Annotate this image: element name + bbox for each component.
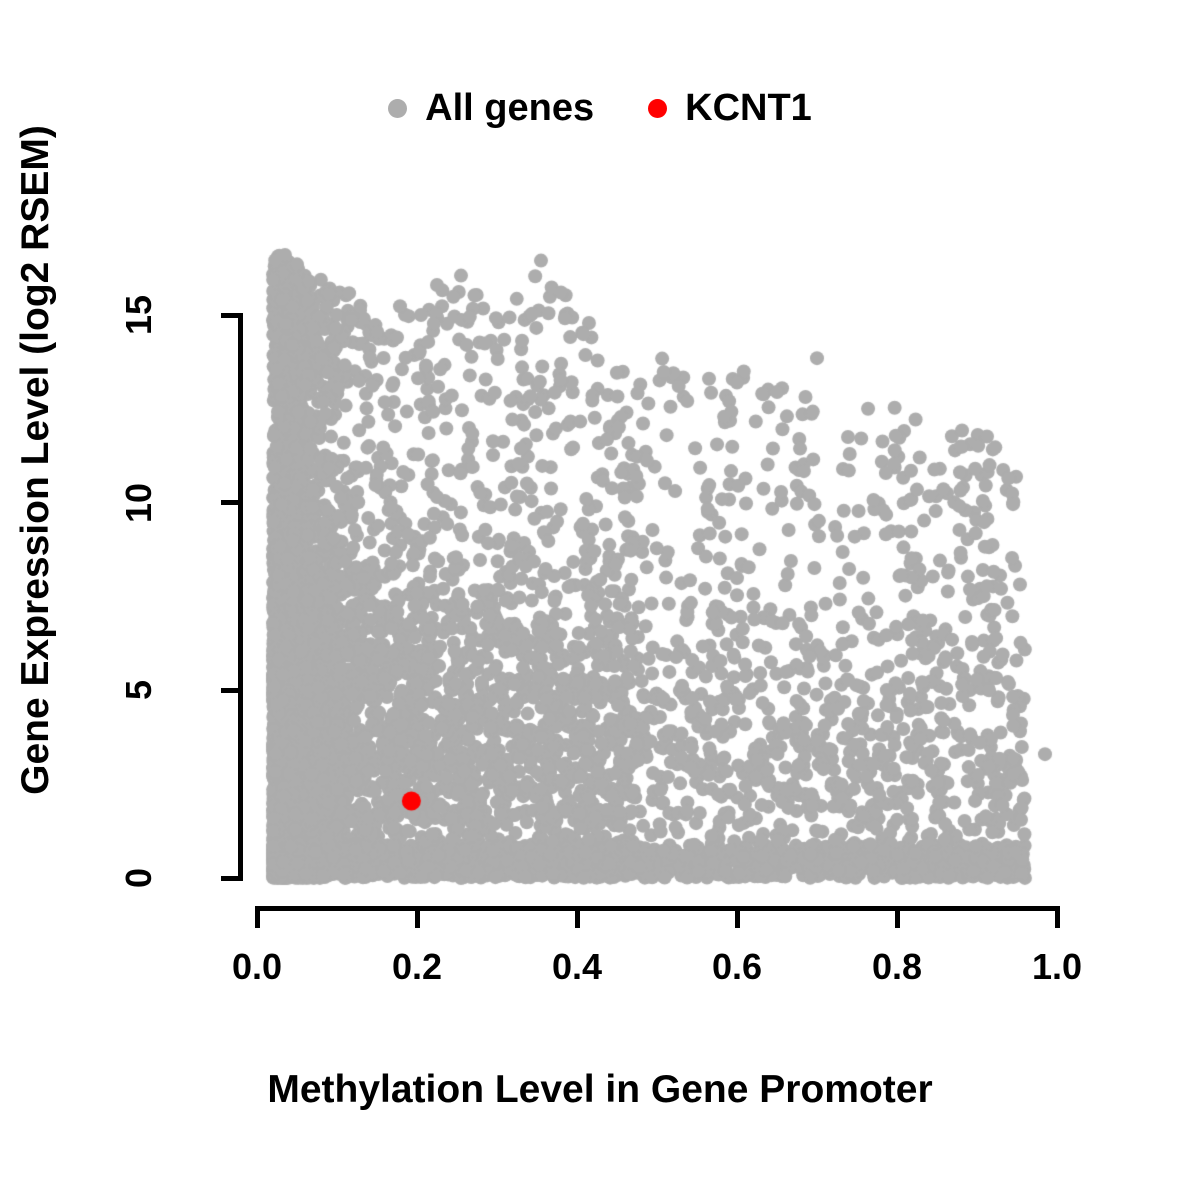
x-axis-tick [735,911,740,928]
x-axis-tick [415,911,420,928]
plot-area [0,0,1200,1200]
y-axis-tick-label: 5 [117,630,161,750]
y-axis-tick-label: 15 [117,255,161,375]
y-axis-tick [221,688,238,693]
y-axis-line [238,313,243,881]
y-axis-tick-label: 0 [117,818,161,938]
y-axis-tick [221,313,238,318]
x-axis-line [255,906,1060,911]
x-axis-tick [895,911,900,928]
y-axis-tick [221,876,238,881]
scatter-points-canvas [0,0,1200,1200]
scatter-plot-figure: All genes KCNT1 Gene Expression Level (l… [0,0,1200,1200]
x-axis-title: Methylation Level in Gene Promoter [267,1068,932,1111]
y-axis-tick [221,500,238,505]
x-axis-tick-label: 1.0 [957,946,1157,988]
x-axis-tick [255,911,260,928]
x-axis-tick [575,911,580,928]
x-axis-title-wrap: Methylation Level in Gene Promoter [0,1068,1200,1112]
x-axis-tick [1055,911,1060,928]
y-axis-tick-label: 10 [117,443,161,563]
